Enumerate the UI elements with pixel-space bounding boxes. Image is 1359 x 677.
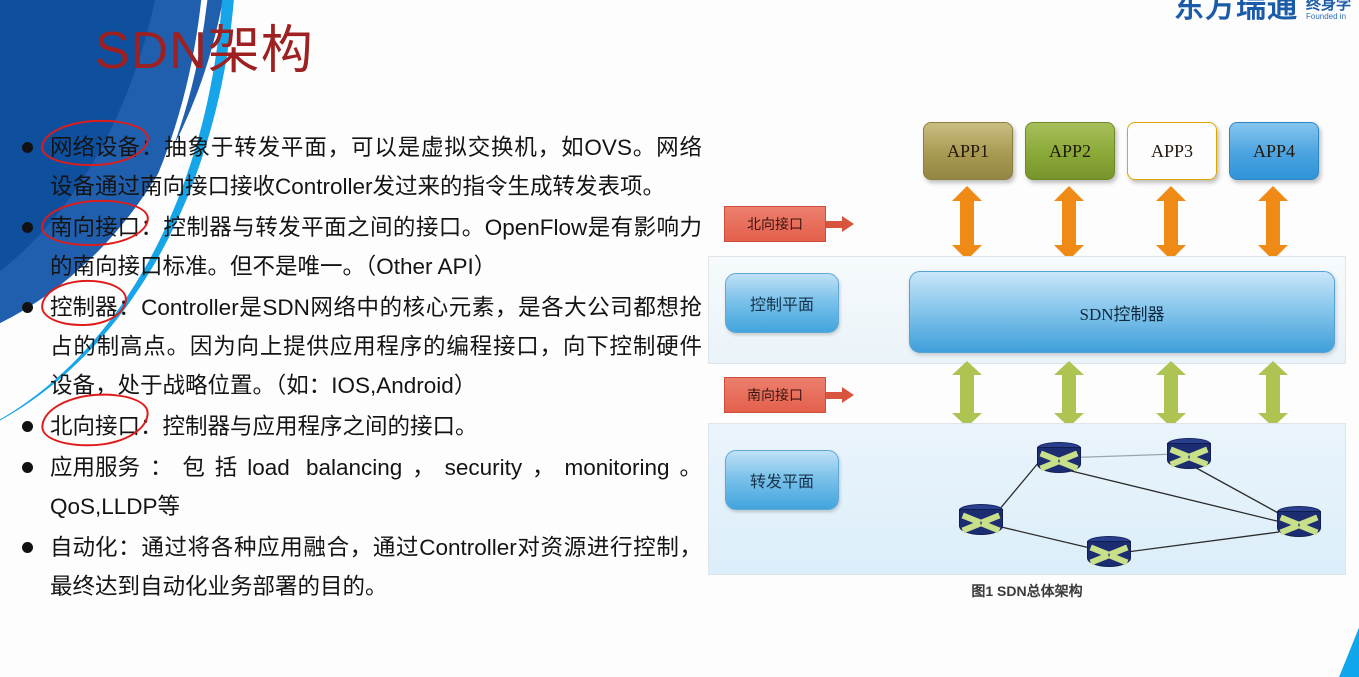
control-plane-panel: 控制平面 SDN控制器	[708, 256, 1346, 364]
northbound-interface-zone: 北向接口	[708, 186, 1346, 260]
southbound-label-box: 南向接口	[724, 377, 826, 413]
logo-tagline-en: Founded in	[1306, 13, 1351, 21]
list-item: 控制器：Controller是SDN网络中的核心元素，是各大公司都想抢占的制高点…	[22, 288, 702, 405]
southbound-arrow-3-icon	[1156, 361, 1186, 427]
bullet-body-text: ：包括load balancing，security，monitoring。Qo…	[50, 455, 702, 519]
northbound-interface-label: 北向接口	[724, 206, 856, 242]
sdn-controller-box: SDN控制器	[909, 271, 1335, 353]
bullet-body-text: ：Controller是SDN网络中的核心元素，是各大公司都想抢占的制高点。因为…	[50, 295, 702, 398]
bullet-list: 网络设备：抽象于转发平面，可以是虚拟交换机，如OVS。网络设备通过南向接口接收C…	[22, 128, 702, 608]
southbound-arrow-4-icon	[1258, 361, 1288, 427]
router-icon-4	[1087, 536, 1131, 568]
southbound-interface-zone: 南向接口	[708, 361, 1346, 427]
diagram-caption: 图1 SDN总体架构	[708, 581, 1346, 601]
application-layer: APP1 APP2 APP3 APP4	[708, 122, 1346, 182]
bullet-text: 应用服务：包括load balancing，security，monitorin…	[50, 448, 702, 526]
bullet-text: 控制器：Controller是SDN网络中的核心元素，是各大公司都想抢占的制高点…	[50, 288, 702, 405]
router-icon-1	[1037, 442, 1081, 474]
northbound-arrow-1-icon	[952, 186, 982, 260]
router-icon-5	[1277, 506, 1321, 538]
forwarding-plane-panel: 转发平面	[708, 423, 1346, 575]
page-title: SDN架构	[95, 8, 314, 83]
bullet-dot-icon	[22, 222, 33, 233]
southbound-arrow-2-icon	[1054, 361, 1084, 427]
bottom-right-cyan-stripe	[1303, 617, 1359, 677]
list-item: 自动化：通过将各种应用融合，通过Controller对资源进行控制，最终达到自动…	[22, 528, 702, 606]
bullet-lead-term: 南向接口	[50, 208, 140, 247]
southbound-interface-label: 南向接口	[724, 377, 856, 413]
app-box-3: APP3	[1127, 122, 1217, 180]
southbound-pointer-arrow-icon	[826, 378, 856, 412]
list-item: 北向接口：控制器与应用程序之间的接口。	[22, 407, 702, 446]
network-topology	[859, 424, 1347, 576]
list-item: 南向接口：控制器与转发平面之间的接口。OpenFlow是有影响力的南向接口标准。…	[22, 208, 702, 286]
router-icon-2	[1167, 438, 1211, 470]
list-item: 应用服务：包括load balancing，security，monitorin…	[22, 448, 702, 526]
bullet-dot-icon	[22, 462, 33, 473]
northbound-arrow-4-icon	[1258, 186, 1288, 260]
logo-brand-text: 东方瑞通	[1174, 0, 1298, 23]
bullet-lead-term: 应用服务	[50, 448, 140, 487]
bullet-text: 南向接口：控制器与转发平面之间的接口。OpenFlow是有影响力的南向接口标准。…	[50, 208, 702, 286]
bullet-text: 自动化：通过将各种应用融合，通过Controller对资源进行控制，最终达到自动…	[50, 528, 702, 606]
app-box-2: APP2	[1025, 122, 1115, 180]
sdn-architecture-diagram: APP1 APP2 APP3 APP4 北向接口	[708, 108, 1346, 603]
brand-logo: 东方瑞通 终身学 Founded in	[1174, 0, 1351, 23]
southbound-arrow-1-icon	[952, 361, 982, 427]
northbound-arrow-3-icon	[1156, 186, 1186, 260]
bullet-lead-term: 网络设备	[50, 128, 140, 167]
bullet-lead-term: 北向接口	[50, 407, 140, 446]
bullet-body-text: ：控制器与应用程序之间的接口。	[140, 414, 478, 439]
bullet-text: 北向接口：控制器与应用程序之间的接口。	[50, 407, 702, 446]
northbound-arrow-2-icon	[1054, 186, 1084, 260]
northbound-label-box: 北向接口	[724, 206, 826, 242]
router-icon-3	[959, 504, 1003, 536]
bullet-lead-term: 控制器	[50, 288, 118, 327]
app-box-4: APP4	[1229, 122, 1319, 180]
bullet-dot-icon	[22, 542, 33, 553]
northbound-pointer-arrow-icon	[826, 207, 856, 241]
bullet-body-text: ：控制器与转发平面之间的接口。OpenFlow是有影响力的南向接口标准。但不是唯…	[50, 215, 702, 279]
bullet-text: 网络设备：抽象于转发平面，可以是虚拟交换机，如OVS。网络设备通过南向接口接收C…	[50, 128, 702, 206]
logo-tagline-cn: 终身学	[1306, 0, 1351, 12]
control-plane-label: 控制平面	[725, 273, 839, 333]
slide-root: 东方瑞通 终身学 Founded in SDN架构 网络设备：抽象于转发平面，可…	[0, 0, 1359, 677]
bullet-body-text: ：抽象于转发平面，可以是虚拟交换机，如OVS。网络设备通过南向接口接收Contr…	[50, 135, 702, 199]
bullet-dot-icon	[22, 142, 33, 153]
bullet-body-text: ：通过将各种应用融合，通过Controller对资源进行控制，最终达到自动化业务…	[50, 535, 702, 599]
forwarding-plane-label: 转发平面	[725, 450, 839, 510]
bullet-dot-icon	[22, 302, 33, 313]
list-item: 网络设备：抽象于转发平面，可以是虚拟交换机，如OVS。网络设备通过南向接口接收C…	[22, 128, 702, 206]
app-box-1: APP1	[923, 122, 1013, 180]
bullet-lead-term: 自动化	[50, 528, 118, 567]
logo-tagline: 终身学 Founded in	[1306, 0, 1351, 23]
bullet-dot-icon	[22, 421, 33, 432]
